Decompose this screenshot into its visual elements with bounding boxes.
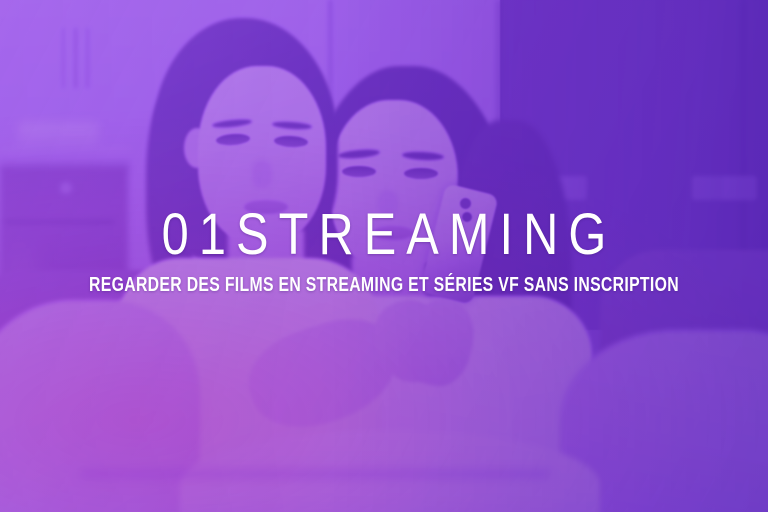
hero-text-block: 01STREAMING REGARDER DES FILMS EN STREAM… — [0, 204, 768, 296]
site-title: 01STREAMING — [61, 204, 706, 266]
hero-banner: 01STREAMING REGARDER DES FILMS EN STREAM… — [0, 0, 768, 512]
site-tagline: REGARDER DES FILMS EN STREAMING ET SÉRIE… — [81, 274, 688, 296]
